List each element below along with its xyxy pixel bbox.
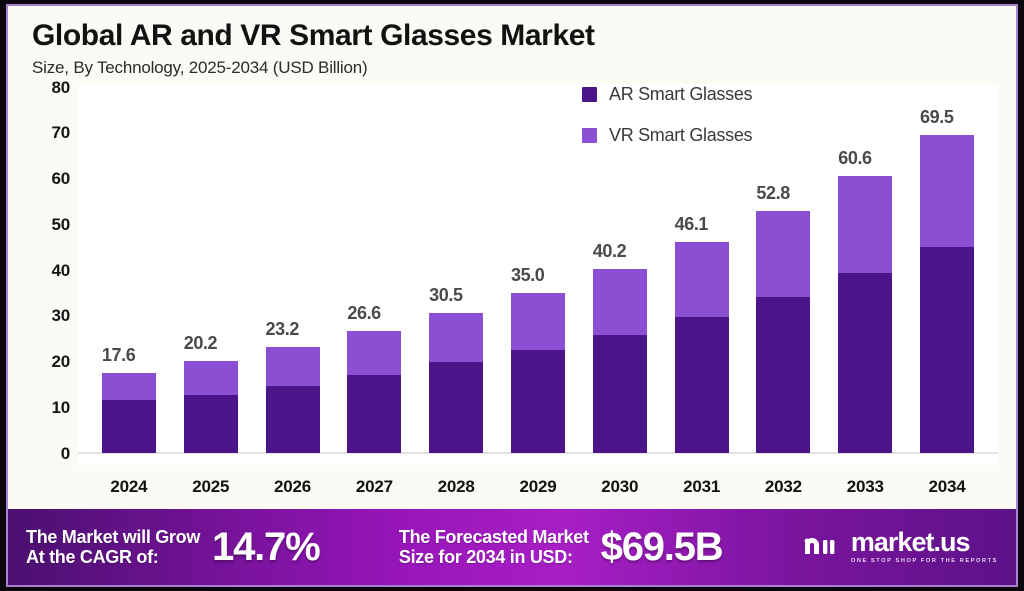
bar-segment-ar[interactable] [920,247,974,453]
cagr-caption-line2: At the CAGR of: [26,547,200,567]
legend-swatch-ar-icon [582,87,597,102]
y-axis-tick: 80 [51,78,70,98]
bar-total-label: 40.2 [593,241,626,262]
bar-stack[interactable]: 69.5 [920,135,974,453]
x-axis-tick: 2027 [333,477,415,497]
bar-group: 17.620.223.226.630.535.040.246.152.860.6… [78,84,998,466]
bar-segment-vr[interactable] [511,293,565,350]
x-axis-tick: 2029 [497,477,579,497]
x-axis: 2024202520262027202820292030203120322033… [78,465,998,509]
brand-logo[interactable]: market.us ONE STOP SHOP FOR THE REPORTS [802,529,1002,565]
y-axis-tick: 60 [51,169,70,189]
bar-segment-ar[interactable] [593,335,647,453]
x-axis-tick: 2031 [661,477,743,497]
bar-segment-ar[interactable] [675,317,729,453]
bar-stack[interactable]: 20.2 [184,361,238,453]
bar-total-label: 35.0 [511,265,544,286]
bar-segment-vr[interactable] [429,313,483,362]
bar-column[interactable]: 69.5 [906,84,988,466]
infographic-frame: Global AR and VR Smart Glasses Market Si… [6,4,1018,587]
bar-segment-vr[interactable] [347,331,401,374]
bar-segment-vr[interactable] [266,347,320,386]
bar-column[interactable]: 52.8 [743,84,825,466]
bar-column[interactable]: 17.6 [88,84,170,466]
y-axis-tick: 30 [51,306,70,326]
logo-wordmark: market.us [851,529,998,556]
bar-segment-ar[interactable] [511,350,565,453]
forecast-block: The Forecasted Market Size for 2034 in U… [399,525,723,570]
y-axis: 80706050403020100 [26,84,78,466]
bar-segment-ar[interactable] [347,375,401,453]
bar-stack[interactable]: 30.5 [429,313,483,453]
bar-segment-vr[interactable] [920,135,974,247]
bar-stack[interactable]: 52.8 [756,211,810,453]
bar-column[interactable]: 60.6 [824,84,906,466]
bar-stack[interactable]: 60.6 [838,176,892,453]
bar-segment-ar[interactable] [184,395,238,453]
bar-segment-vr[interactable] [838,176,892,273]
bar-total-label: 23.2 [266,319,299,340]
page-title: Global AR and VR Smart Glasses Market [32,20,998,52]
cagr-caption: The Market will Grow At the CAGR of: [26,527,200,567]
bar-segment-vr[interactable] [184,361,238,395]
bar-stack[interactable]: 35.0 [511,293,565,453]
cagr-caption-line1: The Market will Grow [26,527,200,547]
bar-total-label: 69.5 [920,107,953,128]
legend-item-vr[interactable]: VR Smart Glasses [582,125,752,146]
legend-swatch-vr-icon [582,128,597,143]
bar-column[interactable]: 30.5 [415,84,497,466]
bar-column[interactable]: 35.0 [497,84,579,466]
x-axis-tick: 2028 [415,477,497,497]
x-axis-tick: 2033 [824,477,906,497]
bar-stack[interactable]: 23.2 [266,347,320,453]
bar-stack[interactable]: 40.2 [593,269,647,453]
bar-total-label: 52.8 [756,183,789,204]
cagr-value: 14.7% [212,525,319,570]
y-axis-tick: 0 [61,444,70,464]
x-axis-tick: 2024 [88,477,170,497]
bar-segment-vr[interactable] [102,373,156,400]
forecast-value: $69.5B [601,525,723,570]
legend-label-ar: AR Smart Glasses [609,84,752,105]
bar-segment-ar[interactable] [102,400,156,453]
summary-banner: The Market will Grow At the CAGR of: 14.… [8,509,1016,585]
bar-total-label: 17.6 [102,345,135,366]
bar-stack[interactable]: 46.1 [675,242,729,453]
bar-column[interactable]: 20.2 [170,84,252,466]
bar-segment-ar[interactable] [429,362,483,453]
cagr-block: The Market will Grow At the CAGR of: 14.… [26,525,319,570]
y-axis-tick: 40 [51,261,70,281]
x-axis-tick: 2032 [743,477,825,497]
bar-total-label: 26.6 [347,303,380,324]
chart-subtitle: Size, By Technology, 2025-2034 (USD Bill… [32,58,998,78]
x-axis-tick: 2026 [252,477,334,497]
bar-column[interactable]: 26.6 [333,84,415,466]
logo-text: market.us ONE STOP SHOP FOR THE REPORTS [851,529,998,565]
bar-stack[interactable]: 26.6 [347,331,401,453]
x-axis-tick: 2025 [170,477,252,497]
bar-segment-vr[interactable] [675,242,729,317]
x-axis-tick: 2034 [906,477,988,497]
forecast-caption-line2: Size for 2034 in USD: [399,547,589,567]
y-axis-tick: 10 [51,398,70,418]
bar-segment-vr[interactable] [593,269,647,335]
chart-card: Global AR and VR Smart Glasses Market Si… [8,6,1016,509]
forecast-caption: The Forecasted Market Size for 2034 in U… [399,527,589,567]
bar-segment-ar[interactable] [838,273,892,453]
bar-stack[interactable]: 17.6 [102,373,156,454]
y-axis-tick: 70 [51,123,70,143]
forecast-caption-line1: The Forecasted Market [399,527,589,547]
plot-canvas: 17.620.223.226.630.535.040.246.152.860.6… [78,84,998,466]
chart-legend: AR Smart Glasses VR Smart Glasses [582,84,752,146]
bar-total-label: 30.5 [429,285,462,306]
bar-segment-ar[interactable] [266,386,320,453]
bar-column[interactable]: 23.2 [252,84,334,466]
y-axis-tick: 50 [51,215,70,235]
infographic-root: Global AR and VR Smart Glasses Market Si… [0,0,1024,591]
legend-item-ar[interactable]: AR Smart Glasses [582,84,752,105]
bar-segment-vr[interactable] [756,211,810,297]
market-us-logo-icon [802,532,842,562]
plot-area: 80706050403020100 17.620.223.226.630.535… [26,84,998,466]
legend-label-vr: VR Smart Glasses [609,125,752,146]
bar-segment-ar[interactable] [756,297,810,453]
bar-total-label: 60.6 [838,148,871,169]
bar-total-label: 46.1 [675,214,708,235]
y-axis-tick: 20 [51,352,70,372]
x-axis-tick: 2030 [579,477,661,497]
logo-tagline: ONE STOP SHOP FOR THE REPORTS [851,559,998,565]
bar-total-label: 20.2 [184,333,217,354]
